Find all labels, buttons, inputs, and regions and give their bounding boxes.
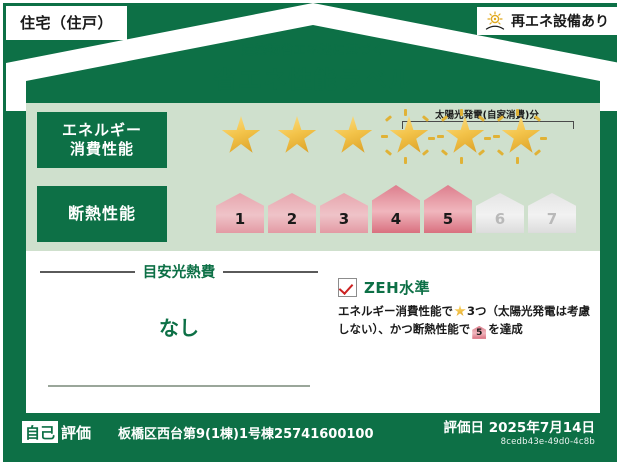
star-icon: [216, 111, 266, 161]
heading-rule-left: [40, 271, 135, 273]
star-ray-icon: [381, 135, 388, 138]
utility-cost-box: 目安光熱費 なし: [34, 257, 324, 407]
zeh-desc-star-count: 3つ（太陽光発電: [467, 304, 556, 318]
star-ray-icon: [441, 115, 448, 122]
insulation-level-7: 7: [528, 193, 576, 233]
zeh-desc-part1: エネルギー消費性能で: [338, 304, 453, 318]
utility-cost-bottom-rule: [48, 385, 310, 387]
evaluation-id: 8cedb43e-49d0-4c8b: [444, 437, 595, 447]
star-ray-icon: [385, 149, 392, 156]
performance-block: エネルギー 消費性能 太陽光発電(自家消費)分 断熱性能 1234567: [26, 103, 600, 251]
house-type-tag: 住宅（住戸）: [6, 6, 127, 40]
solar-star-icon: [496, 111, 546, 161]
label-body-panel: エネルギー 消費性能 太陽光発電(自家消費)分 断熱性能 1234567: [26, 103, 600, 413]
lower-section: 目安光熱費 なし ZEH水準 エネルギー消費性能で3つ（太陽光発電は考慮しない）…: [26, 251, 600, 413]
self-evaluation-badge: 自己 評価: [22, 421, 94, 443]
label-header: 住宅（住戸） 再エネ設備あり 建築物省エネ法に基づく 省エ: [3, 3, 620, 111]
star-ray-icon: [478, 149, 485, 156]
solar-star-icon: [440, 111, 490, 161]
energy-label-line1: エネルギー: [62, 121, 142, 140]
insulation-label-text: 断熱性能: [68, 204, 136, 224]
heading-rule-right: [223, 271, 318, 273]
insulation-level-4: 4: [372, 185, 420, 233]
self-eval-part-b: 評価: [58, 421, 94, 443]
star-shape: [445, 116, 485, 156]
title-main: 省エネ性能ラベル: [3, 60, 620, 95]
star-ray-icon: [497, 149, 504, 156]
utility-cost-value: なし: [34, 312, 324, 341]
evaluation-meta: 評価日 2025年7月14日 8cedb43e-49d0-4c8b: [444, 416, 595, 447]
zeh-desc-part3: を達成: [488, 322, 523, 336]
renewable-energy-badge: 再エネ設備あり: [477, 7, 619, 35]
star-ray-icon: [534, 149, 541, 156]
star-ray-icon: [422, 149, 429, 156]
star-ray-icon: [428, 137, 435, 140]
star-shape: [277, 116, 317, 156]
star-ray-icon: [441, 149, 448, 156]
utility-cost-heading: 目安光熱費: [34, 261, 324, 282]
zeh-description: エネルギー消費性能で3つ（太陽光発電は考慮しない）、かつ断熱性能で5を達成: [338, 303, 590, 339]
star-ray-icon: [404, 157, 407, 164]
star-ray-icon: [516, 109, 519, 116]
star-shape: [389, 116, 429, 156]
solar-star-icon: [384, 111, 434, 161]
star-icon: [272, 111, 322, 161]
insulation-level-5: 5: [424, 185, 472, 233]
insulation-level-3: 3: [320, 193, 368, 233]
star-icon: [328, 111, 378, 161]
star-ray-icon: [497, 115, 504, 122]
zeh-box: ZEH水準 エネルギー消費性能で3つ（太陽光発電は考慮しない）、かつ断熱性能で5…: [338, 277, 590, 339]
star-ray-icon: [484, 137, 491, 140]
insulation-performance-row: 断熱性能 1234567: [26, 177, 600, 251]
energy-performance-label: 住宅（住戸） 再エネ設備あり 建築物省エネ法に基づく 省エ: [0, 0, 620, 465]
label-title: 建築物省エネ法に基づく 省エネ性能ラベル: [3, 39, 620, 95]
evaluation-date: 評価日 2025年7月14日: [444, 416, 595, 436]
star-ray-icon: [404, 109, 407, 116]
insulation-level-1: 1: [216, 193, 264, 233]
star-ray-icon: [422, 115, 429, 122]
star-ray-icon: [460, 157, 463, 164]
insulation-level-badge-icon: 5: [472, 326, 486, 339]
star-ray-icon: [540, 137, 547, 140]
star-ray-icon: [385, 115, 392, 122]
label-footer: 自己 評価 板橋区西台第9(1棟)1号棟25741600100 評価日 2025…: [3, 411, 617, 459]
star-ray-icon: [478, 115, 485, 122]
star-icon: [454, 305, 466, 317]
star-shape: [501, 116, 541, 156]
property-address: 板橋区西台第9(1棟)1号棟25741600100: [118, 423, 374, 442]
energy-star-rating: [216, 111, 546, 161]
sun-icon: [484, 11, 506, 31]
star-shape: [221, 116, 261, 156]
insulation-level-6: 6: [476, 193, 524, 233]
title-subtitle: 建築物省エネ法に基づく: [3, 39, 620, 58]
zeh-title: ZEH水準: [364, 277, 430, 298]
zeh-checkbox-icon: [338, 278, 357, 297]
star-shape: [333, 116, 373, 156]
renewable-badge-label: 再エネ設備あり: [511, 11, 609, 31]
star-ray-icon: [534, 115, 541, 122]
insulation-performance-label: 断熱性能: [37, 186, 167, 242]
insulation-level-2: 2: [268, 193, 316, 233]
star-ray-icon: [516, 157, 519, 164]
utility-cost-heading-text: 目安光熱費: [143, 261, 216, 282]
star-ray-icon: [493, 135, 500, 138]
energy-label-line2: 消費性能: [70, 140, 134, 159]
self-eval-part-a: 自己: [22, 421, 58, 443]
energy-performance-label: エネルギー 消費性能: [37, 112, 167, 168]
zeh-title-row: ZEH水準: [338, 277, 590, 298]
insulation-level-scale: 1234567: [216, 185, 576, 233]
star-ray-icon: [460, 109, 463, 116]
energy-performance-row: エネルギー 消費性能 太陽光発電(自家消費)分: [26, 103, 600, 177]
star-ray-icon: [437, 135, 444, 138]
